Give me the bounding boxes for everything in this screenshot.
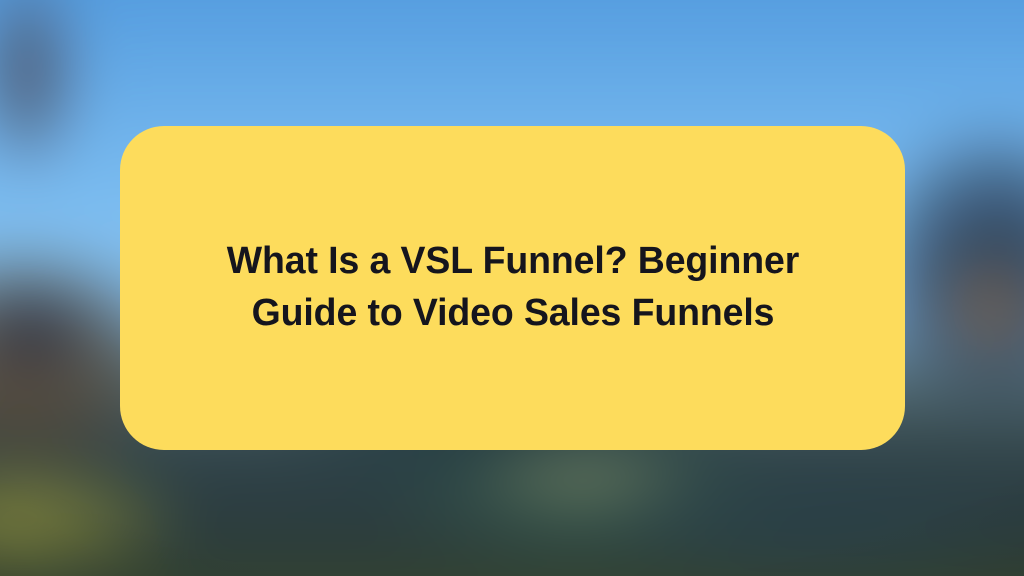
page-title: What Is a VSL Funnel? Beginner Guide to … [217,236,808,339]
screenshot-canvas: What Is a VSL Funnel? Beginner Guide to … [0,0,1024,576]
background-right-warm-patch [922,237,1024,375]
background-left-branch [0,0,86,184]
background-left-dark-mass [0,285,102,380]
title-card: What Is a VSL Funnel? Beginner Guide to … [120,126,905,450]
background-bottom-teal [584,454,1024,576]
